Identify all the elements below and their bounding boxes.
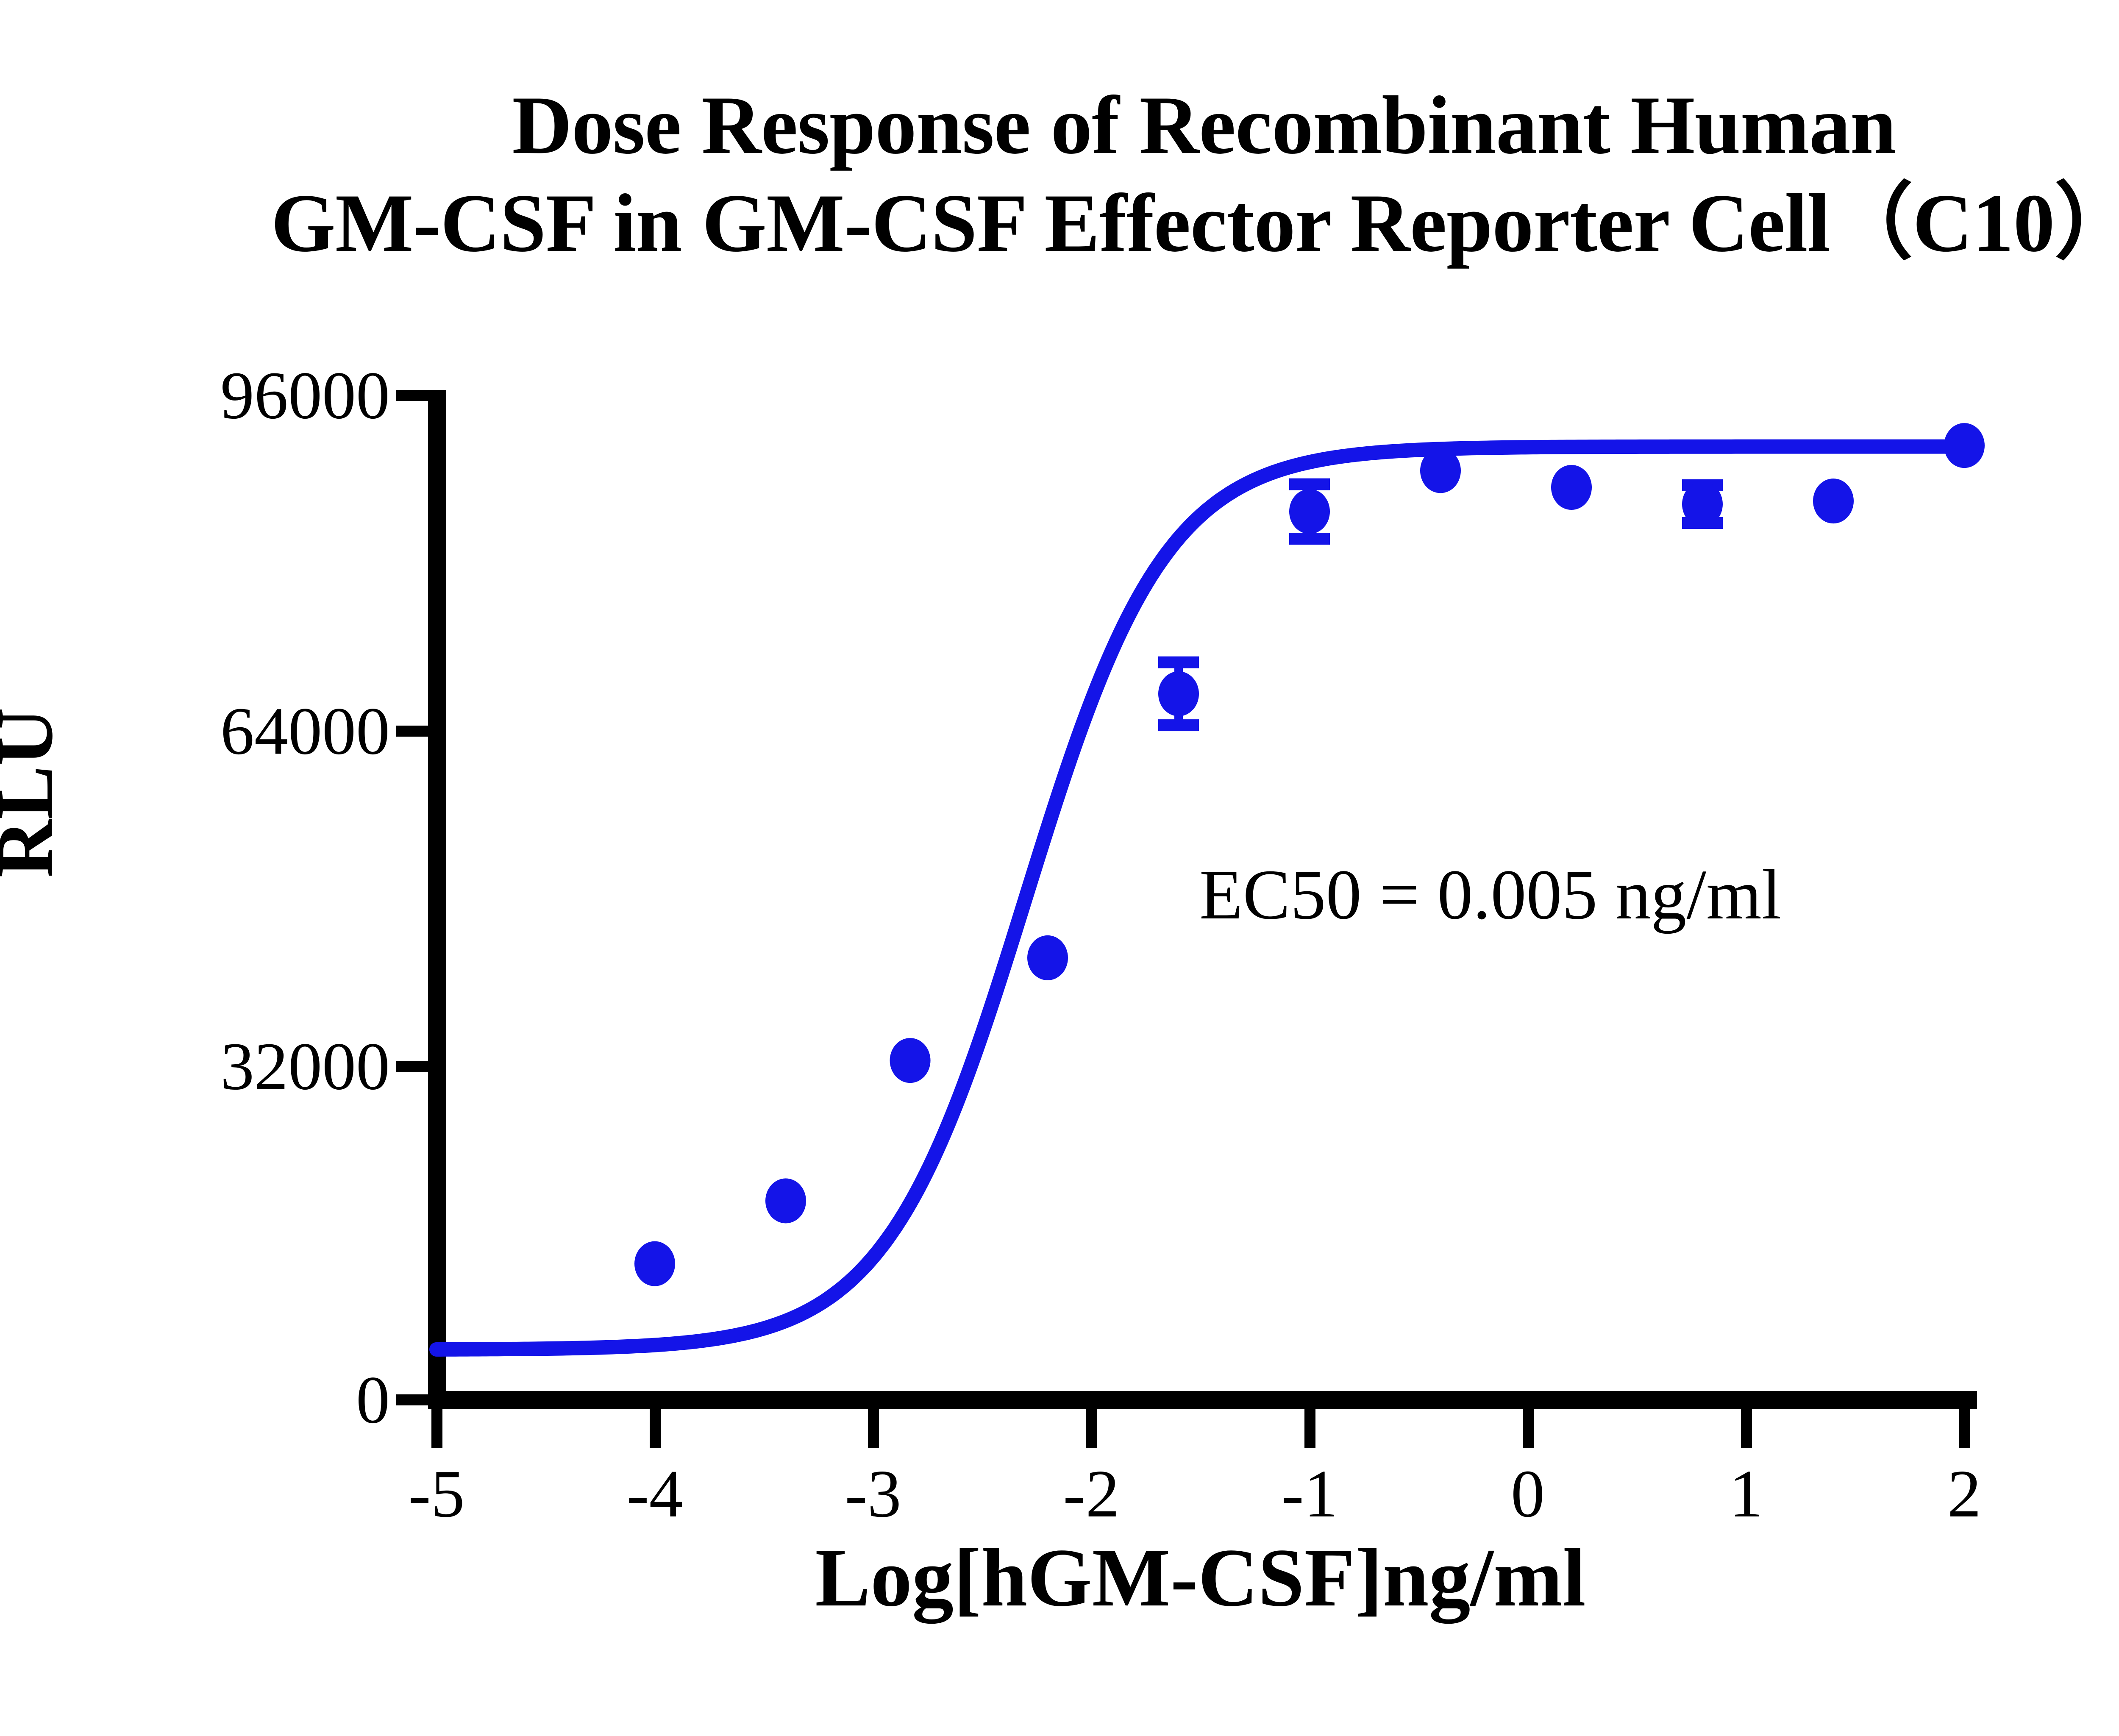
y-tick-mark-32000: [396, 1061, 431, 1072]
x-tick-mark-neg5: [431, 1407, 442, 1448]
error-bars: [1158, 484, 1723, 726]
data-point-marker: [1289, 489, 1330, 534]
x-tick-mark-neg2: [1086, 1407, 1097, 1448]
x-tick-mark-1: [1741, 1407, 1752, 1448]
x-tick-mark-neg3: [868, 1407, 879, 1448]
x-tick-label-neg2: -2: [1063, 1455, 1119, 1533]
x-tick-label-neg4: -4: [626, 1455, 683, 1533]
x-tick-label-2: 2: [1947, 1455, 1981, 1533]
y-tick-mark-0: [396, 1394, 431, 1405]
y-tick-mark-64000: [396, 726, 431, 737]
x-tick-mark-0: [1523, 1407, 1534, 1448]
ec50-annotation: EC50 = 0.005 ng/ml: [1199, 854, 1781, 936]
page-title: Dose Response of Recombinant Human GM-CS…: [0, 76, 2119, 273]
x-axis-title: Log[hGM-CSF]ng/ml: [437, 1530, 1964, 1625]
data-point-marker: [634, 1241, 675, 1286]
data-point-marker: [1551, 465, 1592, 510]
x-tick-mark-neg4: [650, 1407, 661, 1448]
x-tick-label-neg5: -5: [408, 1455, 464, 1533]
x-tick-label-0: 0: [1511, 1455, 1545, 1533]
data-point-marker: [1420, 448, 1461, 493]
x-tick-label-neg1: -1: [1281, 1455, 1338, 1533]
y-tick-label-64000: 64000: [220, 692, 390, 771]
chart-page: Dose Response of Recombinant Human GM-CS…: [0, 0, 2119, 1736]
data-point-marker: [1944, 423, 1985, 468]
x-tick-mark-2: [1959, 1407, 1970, 1448]
x-tick-label-1: 1: [1729, 1455, 1763, 1533]
x-axis-line: [428, 1391, 1977, 1409]
data-point-marker: [890, 1038, 931, 1083]
x-tick-label-neg3: -3: [845, 1455, 901, 1533]
data-point-marker: [765, 1178, 806, 1223]
data-point-marker: [1158, 671, 1199, 716]
x-tick-mark-neg1: [1304, 1407, 1315, 1448]
y-tick-mark-96000: [396, 390, 431, 401]
y-tick-label-96000: 96000: [220, 356, 390, 435]
y-axis-line: [428, 390, 446, 1406]
data-point-marker: [1027, 935, 1068, 980]
data-point-marker: [1682, 482, 1723, 527]
y-axis-title: RLU: [0, 644, 71, 941]
y-tick-label-32000: 32000: [220, 1027, 390, 1106]
data-point-marker: [1813, 479, 1854, 523]
y-tick-label-0: 0: [356, 1361, 390, 1439]
